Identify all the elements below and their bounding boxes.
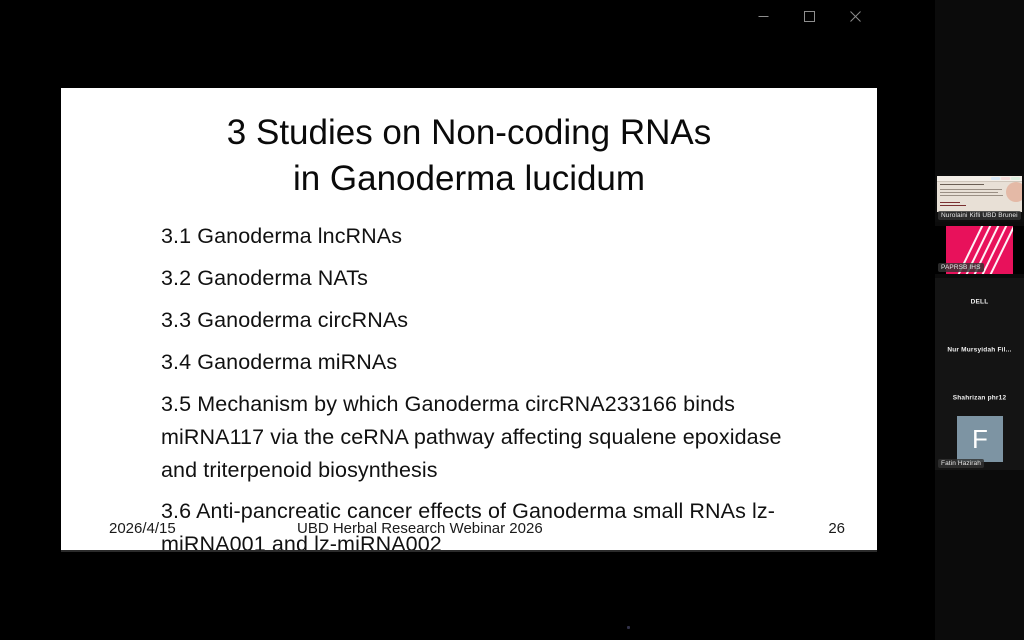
- toolbar-chip: [991, 177, 1000, 180]
- participant-tile[interactable]: PAPRSB IHS: [935, 226, 1024, 274]
- slide-bullet-3-1: 3.1 Ganoderma lncRNAs: [161, 220, 821, 253]
- participant-tile[interactable]: Nurolaini Kifli UBD Brunei: [935, 174, 1024, 222]
- webcam-face: [1006, 182, 1022, 202]
- document-text-line: [940, 189, 1002, 190]
- document-text-line: [940, 192, 998, 193]
- slide-bullet-3-3: 3.3 Ganoderma circRNAs: [161, 304, 821, 337]
- close-icon: [850, 11, 861, 22]
- slide-footer-date: 2026/4/15: [109, 520, 176, 537]
- slide-footer-page-number: 26: [828, 520, 845, 537]
- participant-tile[interactable]: F Fatin Hazirah: [935, 414, 1024, 470]
- slide-title: 3 Studies on Non-coding RNAs in Ganoderm…: [101, 110, 837, 202]
- close-button[interactable]: [832, 0, 878, 32]
- document-text-line: [940, 195, 1003, 196]
- window-titlebar: [61, 0, 878, 32]
- participant-name-label: Shahrizan phr12: [935, 395, 1024, 402]
- participant-name-label: DELL: [935, 299, 1024, 306]
- toolbar-chip: [1011, 177, 1020, 180]
- toolbar-chip: [1001, 177, 1010, 180]
- slide-title-line-2: in Ganoderma lucidum: [101, 156, 837, 202]
- slide-bullet-3-5: 3.5 Mechanism by which Ganoderma circRNA…: [161, 388, 821, 487]
- participant-name-label: Fatin Hazirah: [938, 459, 984, 468]
- slide-footer: 2026/4/15 UBD Herbal Research Webinar 20…: [61, 520, 877, 540]
- cursor-dot: [627, 626, 630, 629]
- participant-name-label: Nurolaini Kifli UBD Brunei: [938, 211, 1021, 220]
- minimize-icon: [758, 11, 769, 22]
- document-text-line: [940, 202, 960, 203]
- slide-bullet-3-2: 3.2 Ganoderma NATs: [161, 262, 821, 295]
- slide-footer-event: UBD Herbal Research Webinar 2026: [297, 520, 543, 537]
- document-text-line: [940, 205, 966, 206]
- avatar-initial: F: [972, 426, 988, 452]
- participant-name-label: Nur Mursyidah Fil...: [935, 347, 1024, 354]
- avatar: F: [957, 416, 1003, 462]
- shared-document-thumbnail: [937, 176, 1022, 212]
- slide-bottom-edge: [61, 550, 877, 552]
- slide-title-line-1: 3 Studies on Non-coding RNAs: [101, 110, 837, 156]
- document-text-line: [940, 184, 984, 185]
- presentation-slide: 3 Studies on Non-coding RNAs in Ganoderm…: [61, 88, 877, 550]
- maximize-button[interactable]: [786, 0, 832, 32]
- slide-bullet-3-4: 3.4 Ganoderma miRNAs: [161, 346, 821, 379]
- maximize-icon: [804, 11, 815, 22]
- screen-share-window: 3 Studies on Non-coding RNAs in Ganoderm…: [61, 0, 878, 640]
- participant-name-label: PAPRSB IHS: [938, 263, 984, 272]
- participant-tile[interactable]: Nur Mursyidah Fil...: [935, 326, 1024, 374]
- minimize-button[interactable]: [740, 0, 786, 32]
- participant-tile[interactable]: DELL: [935, 278, 1024, 326]
- participant-filmstrip: Nurolaini Kifli UBD Brunei PAPRSB IHS DE…: [935, 0, 1024, 640]
- slide-bullet-list: 3.1 Ganoderma lncRNAs 3.2 Ganoderma NATs…: [161, 220, 821, 560]
